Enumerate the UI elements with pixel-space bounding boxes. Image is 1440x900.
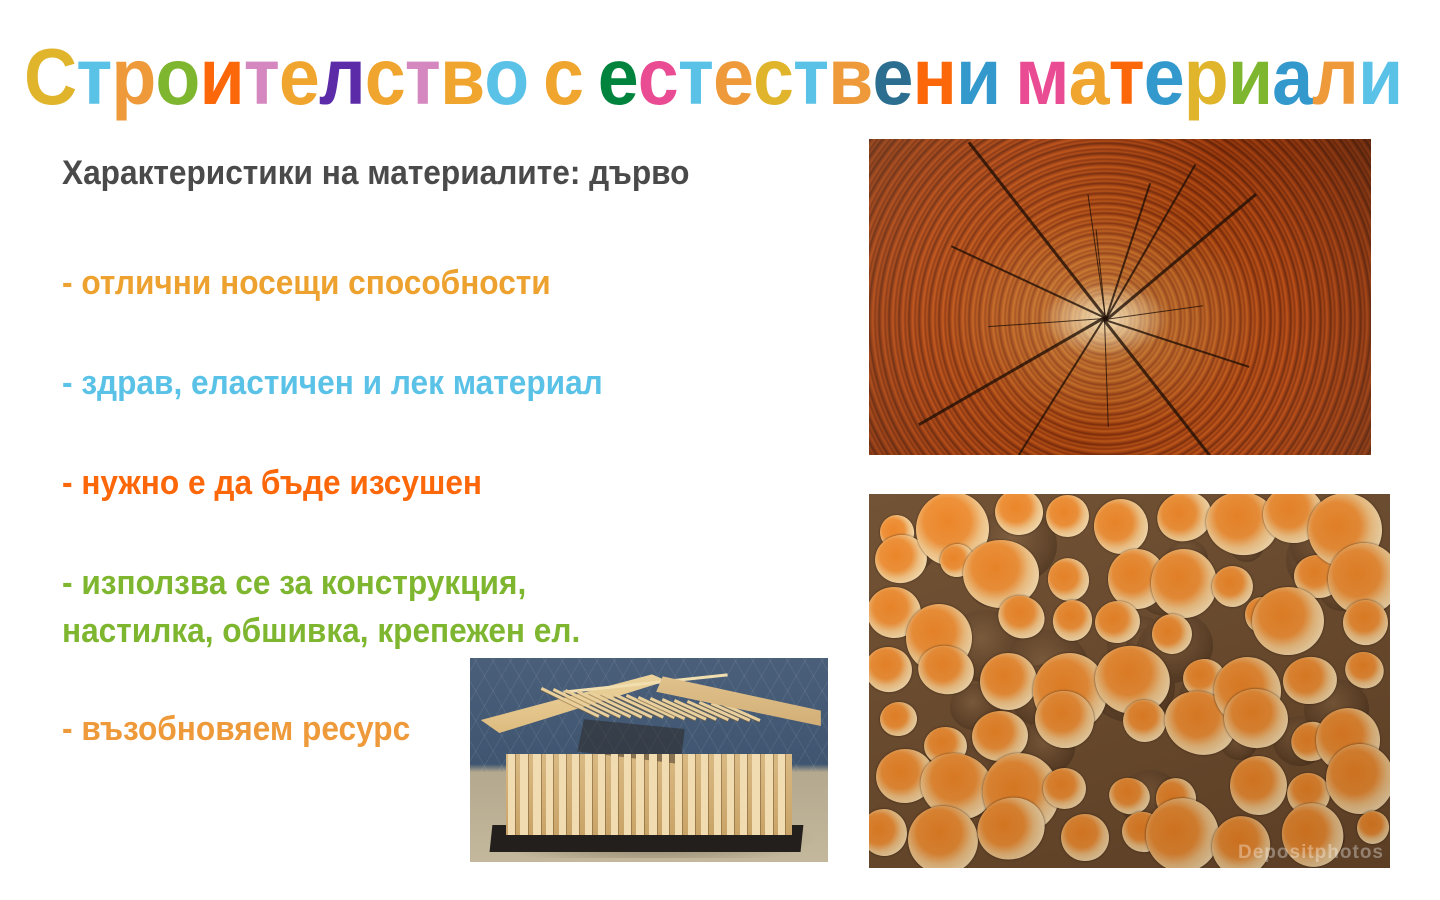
log-cross-section — [1229, 754, 1290, 817]
title-letter: С — [24, 34, 76, 120]
title-letter: и — [1228, 34, 1272, 120]
tree-rings-photo — [869, 139, 1371, 455]
log-cross-section — [1046, 495, 1089, 537]
title-letter: т — [678, 34, 713, 120]
title-letter: е — [279, 34, 319, 120]
title-letter: в — [828, 34, 872, 120]
model-wall-stud — [598, 754, 605, 836]
log-cross-section — [869, 803, 914, 863]
model-wall-stud — [662, 754, 669, 836]
bullet-item-strong-elastic-light: - здрав, еластичен и лек материал — [62, 359, 603, 407]
title-letter: и — [1358, 34, 1402, 120]
model-wall-stud — [727, 754, 734, 836]
model-wall-stud — [533, 754, 540, 836]
house-frame-model-photo — [470, 658, 828, 862]
title-letter: и — [956, 34, 1000, 120]
title-letter: л — [319, 34, 365, 120]
title-letter: а — [1272, 34, 1312, 120]
model-wall-stud — [714, 754, 721, 836]
model-wall-stud — [585, 754, 592, 836]
model-wall-stud — [624, 754, 631, 836]
bullet-item-uses: - използва се за конструкция, настилка, … — [62, 559, 580, 656]
watermark-text: Depositphotos — [1238, 842, 1384, 864]
log-cross-section — [878, 700, 920, 739]
log-pile-photo: Depositphotos — [869, 494, 1390, 868]
title-letter: и — [199, 34, 243, 120]
model-wall-stud — [546, 754, 553, 836]
title-letter: с — [638, 34, 678, 120]
page-title: Строителство с естествени материали — [24, 34, 1312, 120]
title-letter: т — [1109, 34, 1144, 120]
title-letter: м — [1015, 34, 1069, 120]
title-letter: т — [405, 34, 440, 120]
model-wall-stud — [611, 754, 618, 836]
model-wall-stud — [701, 754, 708, 836]
title-letter — [528, 34, 543, 120]
bullet-item-must-be-dried: - нужно е да бъде изсушен — [62, 459, 482, 507]
title-letter: а — [1069, 34, 1109, 120]
model-wall-stud — [520, 754, 527, 836]
model-wall-stud — [765, 754, 772, 836]
title-letter — [583, 34, 598, 120]
model-wall-stud — [649, 754, 656, 836]
model-wall-stud — [740, 754, 747, 836]
title-letter: о — [155, 34, 199, 120]
title-letter: с — [753, 34, 793, 120]
title-letter: с — [365, 34, 405, 120]
title-letter: т — [793, 34, 828, 120]
title-letter: с — [543, 34, 583, 120]
title-letter: е — [598, 34, 638, 120]
title-letter: е — [872, 34, 912, 120]
model-wall-stud — [778, 754, 785, 836]
title-letter — [1000, 34, 1015, 120]
title-letter: о — [484, 34, 528, 120]
title-letter: р — [1184, 34, 1228, 120]
title-letter: т — [244, 34, 279, 120]
bullet-item-load-capacity: - отлични носещи способности — [62, 259, 551, 307]
section-subtitle: Характеристики на материалите: дърво — [62, 154, 690, 193]
title-letter: е — [713, 34, 753, 120]
title-letter: л — [1312, 34, 1358, 120]
model-wall-stud — [559, 754, 566, 836]
model-wall-stud — [572, 754, 579, 836]
model-wall-stud — [636, 754, 643, 836]
log-cross-section — [1043, 767, 1087, 809]
model-wall-stud — [508, 754, 515, 836]
model-wall-stud — [688, 754, 695, 836]
model-wall-stud — [752, 754, 759, 836]
title-letter: н — [912, 34, 956, 120]
bullet-item-renewable-resource: - възобновяем ресурс — [62, 705, 410, 753]
title-letter: р — [111, 34, 155, 120]
model-wall-stud — [675, 754, 682, 836]
log-cross-section — [1059, 812, 1111, 863]
title-letter: е — [1144, 34, 1184, 120]
title-letter: в — [440, 34, 484, 120]
title-letter: т — [76, 34, 111, 120]
